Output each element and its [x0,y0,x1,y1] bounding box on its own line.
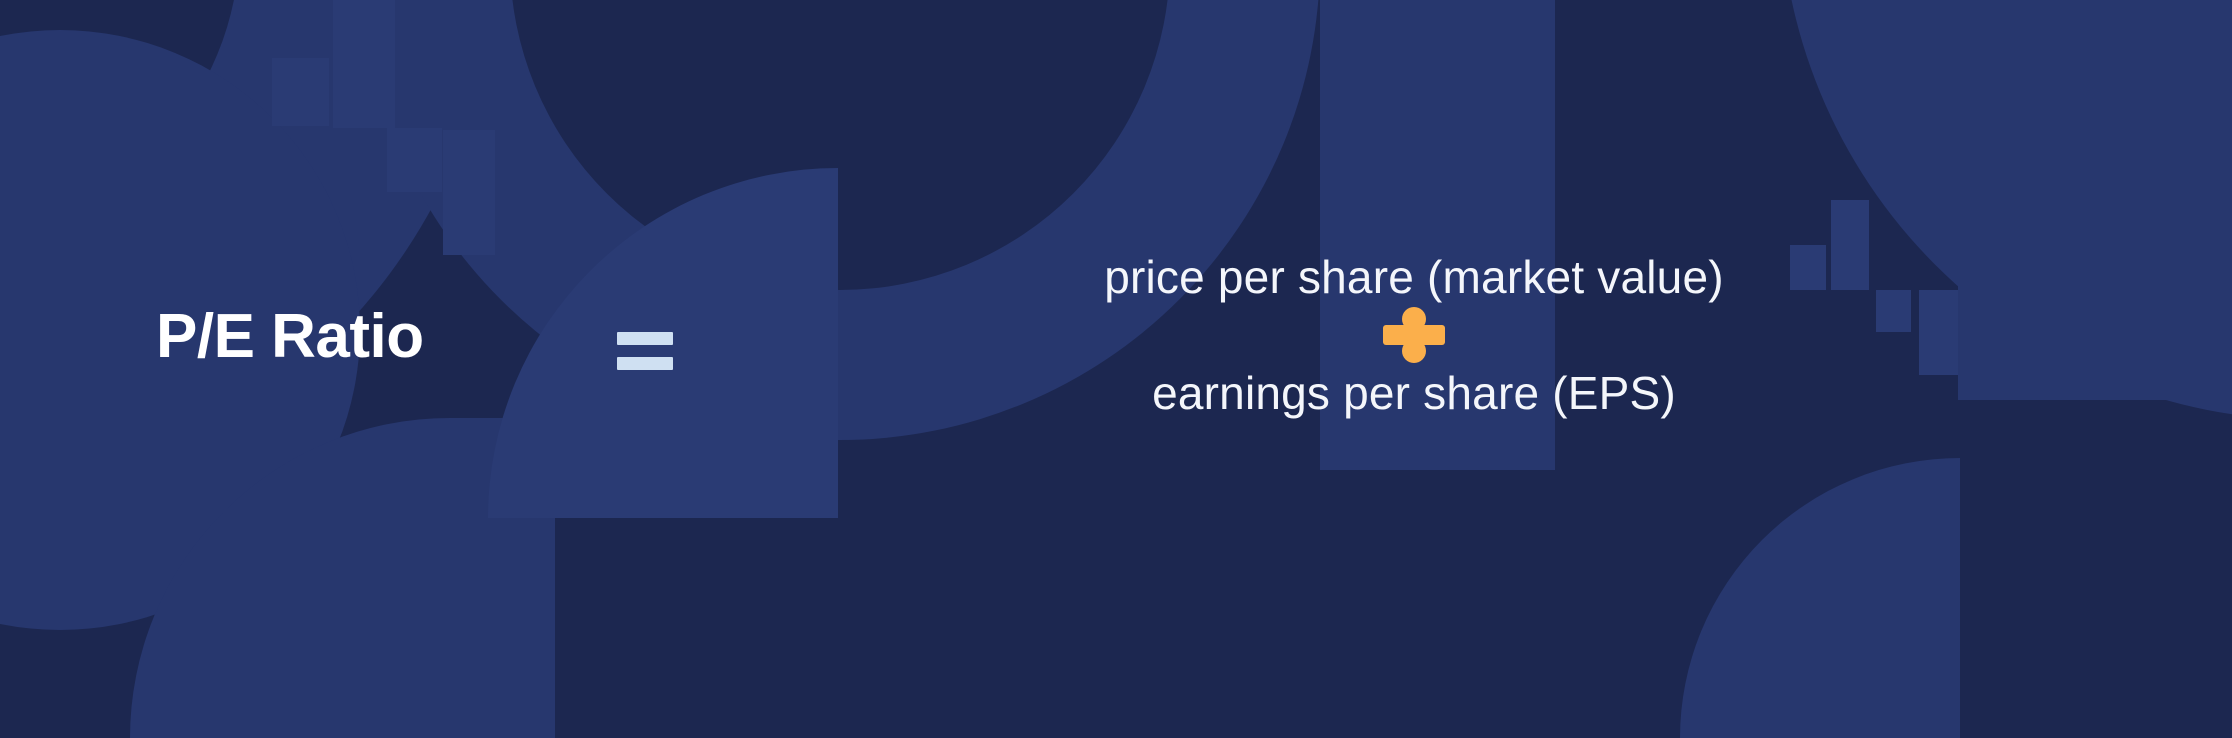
formula-container: P/E Ratio price per share (market value)… [0,0,2232,738]
divide-icon-dot-bottom [1402,339,1426,363]
divide-icon [1383,307,1445,363]
pe-ratio-formula-banner: P/E Ratio price per share (market value)… [0,0,2232,738]
fraction-denominator: earnings per share (EPS) [1064,366,1764,420]
page-title: P/E Ratio [156,306,424,368]
equals-icon [617,332,673,370]
fraction-operator [1064,304,1764,366]
equals-icon-bar-bottom [617,357,673,370]
equals-icon-bar-top [617,332,673,345]
fraction-numerator: price per share (market value) [1064,250,1764,304]
fraction-expression: price per share (market value) earnings … [1064,250,1764,421]
